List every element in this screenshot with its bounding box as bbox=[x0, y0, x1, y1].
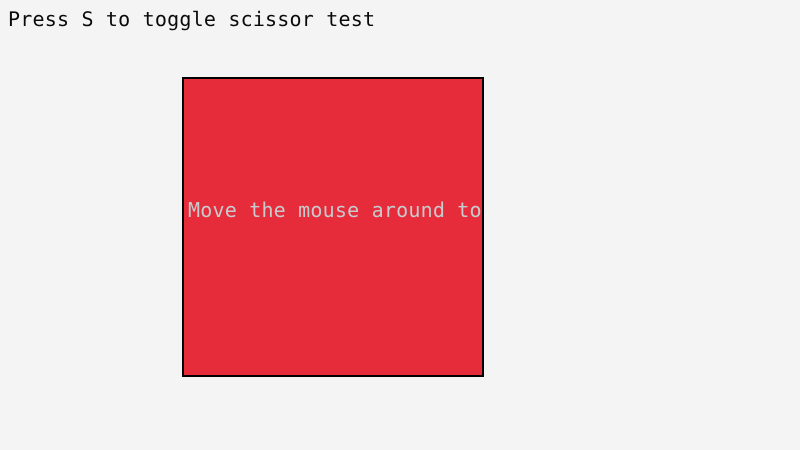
scissor-clipped-label: Move the mouse around to resize the scis… bbox=[188, 198, 484, 222]
demo-canvas: Press S to toggle scissor test Move the … bbox=[0, 0, 800, 450]
scissor-region[interactable]: Move the mouse around to resize the scis… bbox=[182, 77, 484, 377]
page-title: Press S to toggle scissor test bbox=[8, 6, 708, 32]
